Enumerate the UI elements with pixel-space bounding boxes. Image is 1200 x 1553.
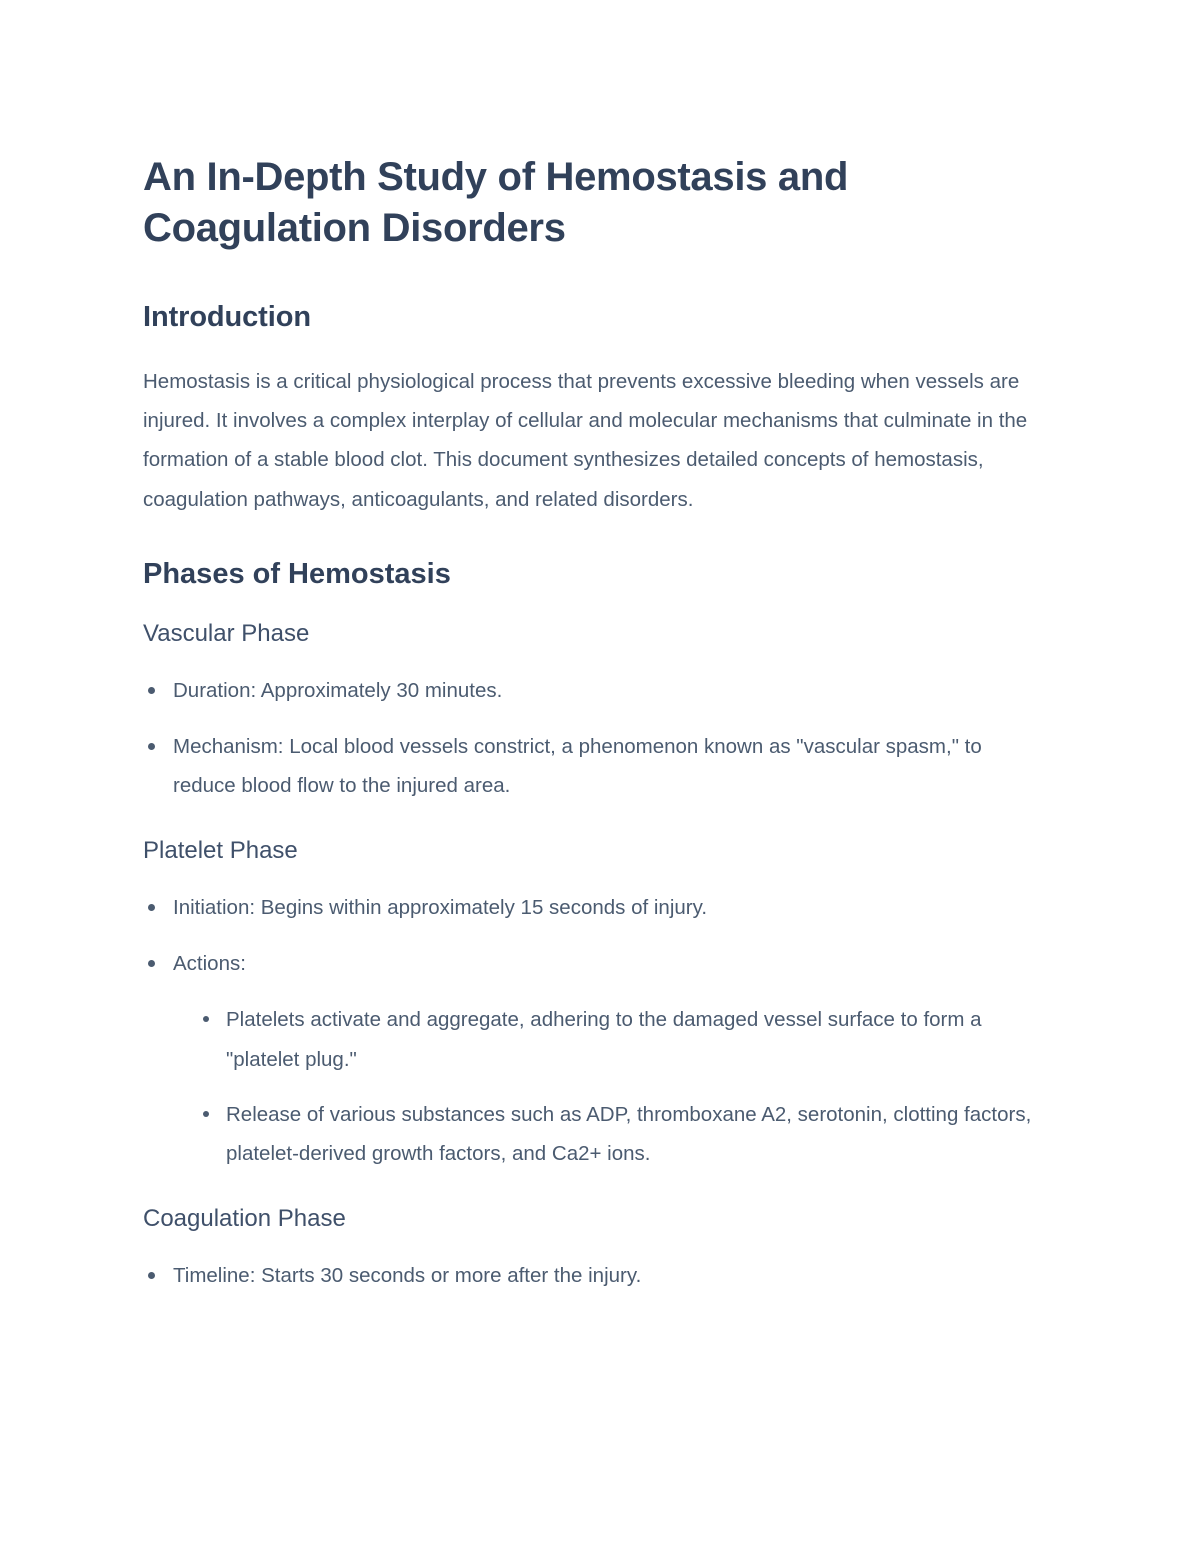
document-page: An In-Depth Study of Hemostasis and Coag…	[0, 0, 1200, 1553]
subsection-heading-vascular-phase: Vascular Phase	[143, 619, 1040, 649]
bullet-list-coagulation-phase: Timeline: Starts 30 seconds or more afte…	[143, 1256, 1040, 1295]
list-item: Actions: Platelets activate and aggregat…	[143, 944, 1040, 1174]
page-title: An In-Depth Study of Hemostasis and Coag…	[143, 152, 1023, 254]
list-item: Timeline: Starts 30 seconds or more afte…	[143, 1256, 1040, 1295]
list-item: Mechanism: Local blood vessels constrict…	[143, 727, 1040, 806]
bullet-list-platelet-phase: Initiation: Begins within approximately …	[143, 888, 1040, 1174]
list-item: Duration: Approximately 30 minutes.	[143, 671, 1040, 710]
subsection-heading-coagulation-phase: Coagulation Phase	[143, 1204, 1040, 1234]
section-heading-phases-of-hemostasis: Phases of Hemostasis	[143, 557, 1040, 592]
list-item: Release of various substances such as AD…	[200, 1095, 1040, 1174]
bullet-list-vascular-phase: Duration: Approximately 30 minutes. Mech…	[143, 671, 1040, 806]
section-heading-introduction: Introduction	[143, 300, 1040, 335]
list-item: Platelets activate and aggregate, adheri…	[200, 1000, 1040, 1079]
introduction-paragraph: Hemostasis is a critical physiological p…	[143, 362, 1040, 519]
list-item-label: Actions:	[173, 952, 246, 975]
subsection-heading-platelet-phase: Platelet Phase	[143, 836, 1040, 866]
list-item: Initiation: Begins within approximately …	[143, 888, 1040, 927]
sub-bullet-list-actions: Platelets activate and aggregate, adheri…	[173, 1000, 1040, 1173]
